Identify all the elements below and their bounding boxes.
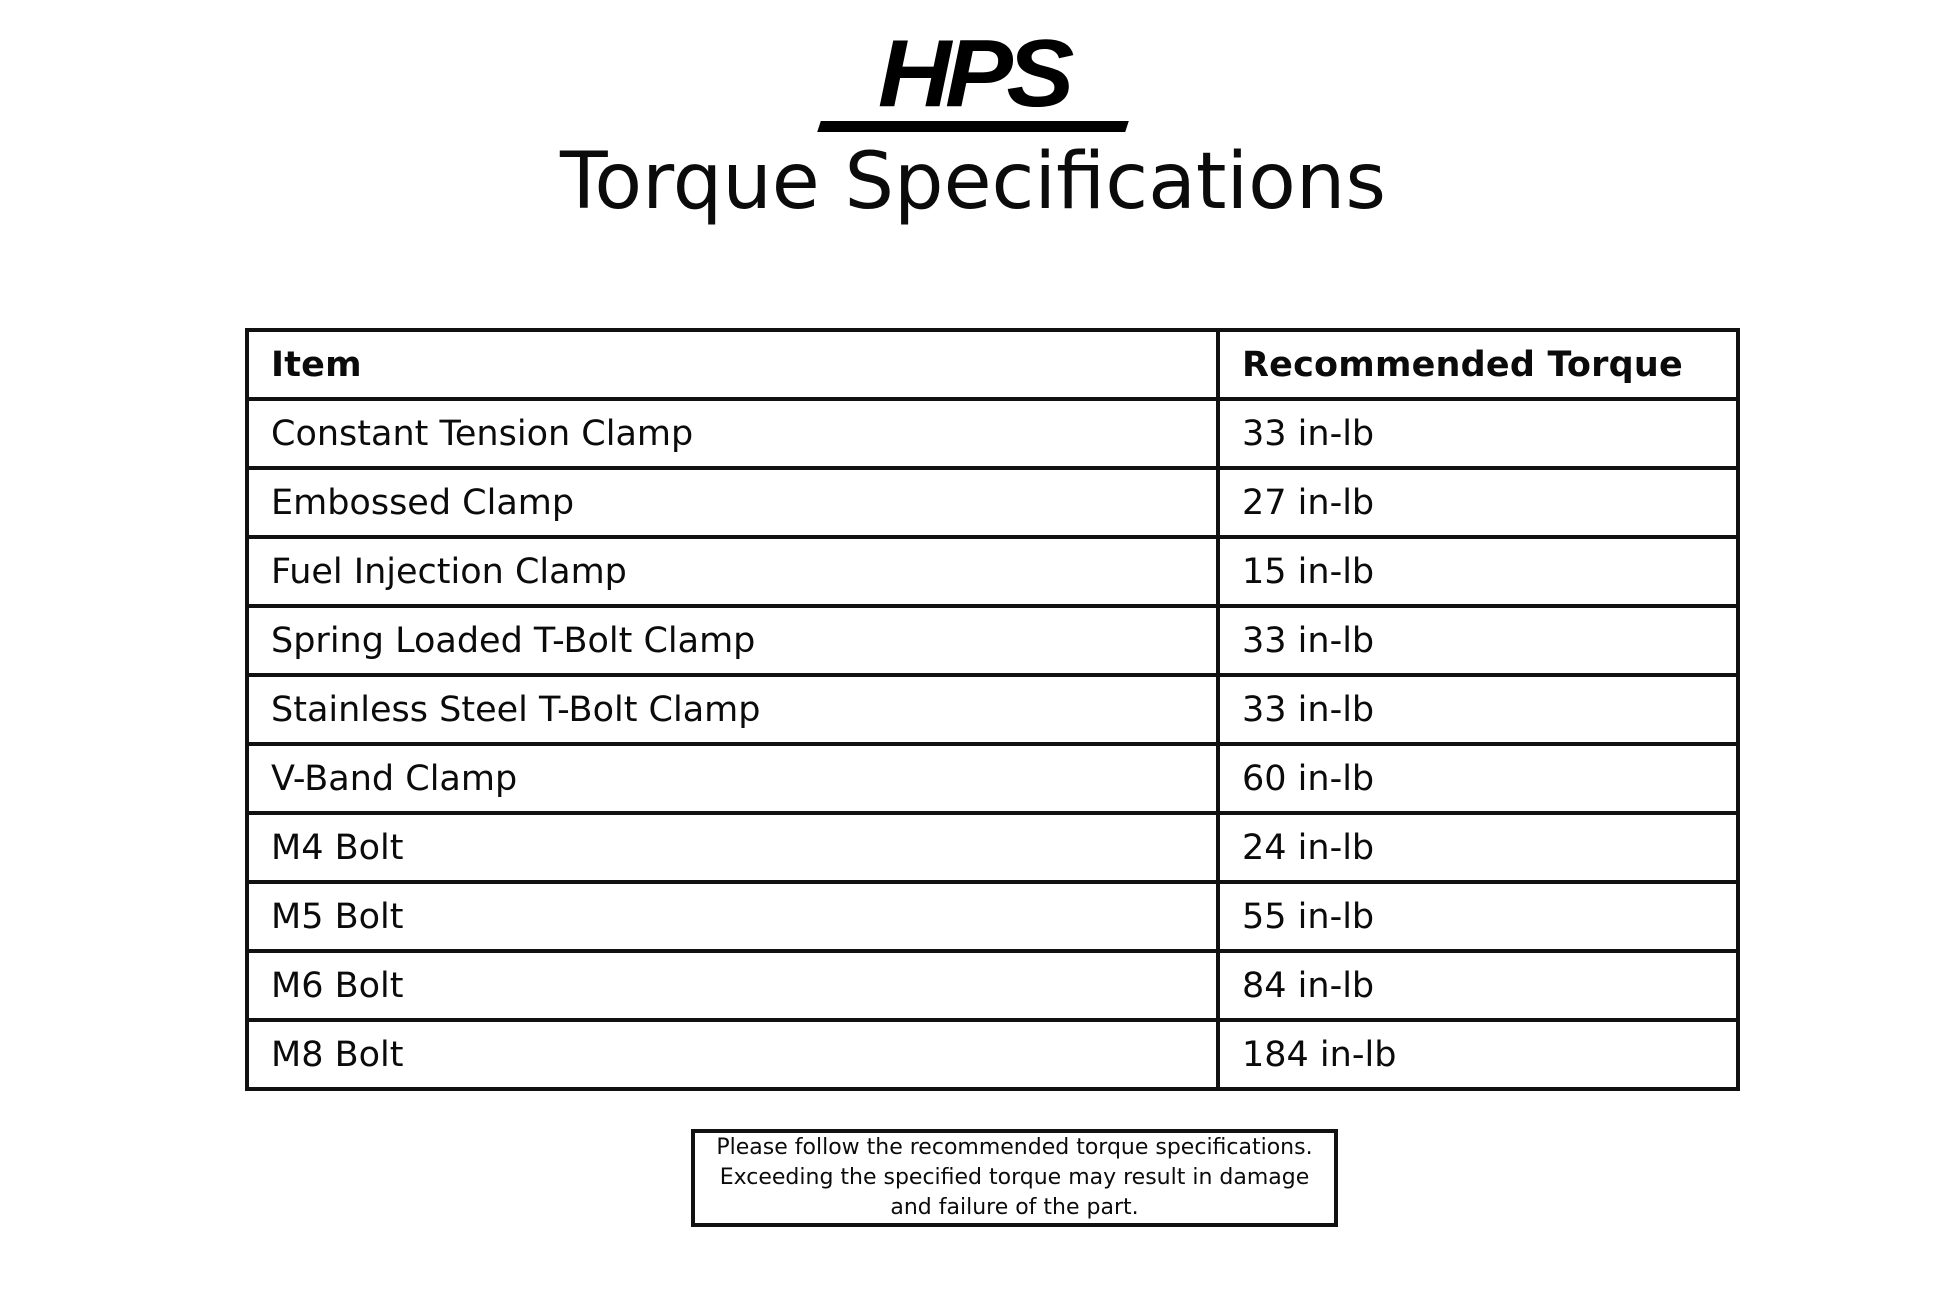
cell-item: Spring Loaded T-Bolt Clamp <box>247 606 1218 675</box>
torque-specifications-table: Item Recommended Torque Constant Tension… <box>245 328 1740 1091</box>
table-row: M4 Bolt 24 in-lb <box>247 813 1738 882</box>
cell-item: M4 Bolt <box>247 813 1218 882</box>
table-body: Constant Tension Clamp 33 in-lb Embossed… <box>247 399 1738 1089</box>
cell-item: M8 Bolt <box>247 1020 1218 1089</box>
table-header: Item Recommended Torque <box>247 330 1738 399</box>
cell-torque: 27 in-lb <box>1218 468 1738 537</box>
cell-item: Stainless Steel T-Bolt Clamp <box>247 675 1218 744</box>
table-row: V-Band Clamp 60 in-lb <box>247 744 1738 813</box>
brand-logo: HPS <box>0 34 1946 140</box>
table-row: Stainless Steel T-Bolt Clamp 33 in-lb <box>247 675 1738 744</box>
cell-torque: 15 in-lb <box>1218 537 1738 606</box>
hps-wordmark-icon: HPS <box>813 34 1133 140</box>
note-line-3: and failure of the part. <box>890 1193 1138 1223</box>
page-title: Torque Specifications <box>0 138 1946 226</box>
table-row: Constant Tension Clamp 33 in-lb <box>247 399 1738 468</box>
table-row: Spring Loaded T-Bolt Clamp 33 in-lb <box>247 606 1738 675</box>
cell-item: V-Band Clamp <box>247 744 1218 813</box>
cell-torque: 84 in-lb <box>1218 951 1738 1020</box>
cell-torque: 33 in-lb <box>1218 606 1738 675</box>
note-line-2: Exceeding the specified torque may resul… <box>720 1163 1310 1193</box>
column-header-item: Item <box>247 330 1218 399</box>
cell-item: M5 Bolt <box>247 882 1218 951</box>
cell-item: Embossed Clamp <box>247 468 1218 537</box>
cell-item: M6 Bolt <box>247 951 1218 1020</box>
table-header-row: Item Recommended Torque <box>247 330 1738 399</box>
note-line-1: Please follow the recommended torque spe… <box>716 1133 1312 1163</box>
column-header-recommended-torque: Recommended Torque <box>1218 330 1738 399</box>
torque-specifications-table-wrapper: Item Recommended Torque Constant Tension… <box>245 328 1736 1091</box>
cell-torque: 60 in-lb <box>1218 744 1738 813</box>
table-row: M8 Bolt 184 in-lb <box>247 1020 1738 1089</box>
cell-torque: 33 in-lb <box>1218 399 1738 468</box>
table-row: M5 Bolt 55 in-lb <box>247 882 1738 951</box>
logo-text: HPS <box>803 26 1142 122</box>
table-row: Fuel Injection Clamp 15 in-lb <box>247 537 1738 606</box>
table-row: M6 Bolt 84 in-lb <box>247 951 1738 1020</box>
cell-torque: 33 in-lb <box>1218 675 1738 744</box>
table-row: Embossed Clamp 27 in-lb <box>247 468 1738 537</box>
cell-item: Constant Tension Clamp <box>247 399 1218 468</box>
cell-torque: 184 in-lb <box>1218 1020 1738 1089</box>
cell-item: Fuel Injection Clamp <box>247 537 1218 606</box>
warning-note-box: Please follow the recommended torque spe… <box>691 1129 1338 1227</box>
cell-torque: 55 in-lb <box>1218 882 1738 951</box>
logo-underline-bar <box>817 121 1129 132</box>
cell-torque: 24 in-lb <box>1218 813 1738 882</box>
